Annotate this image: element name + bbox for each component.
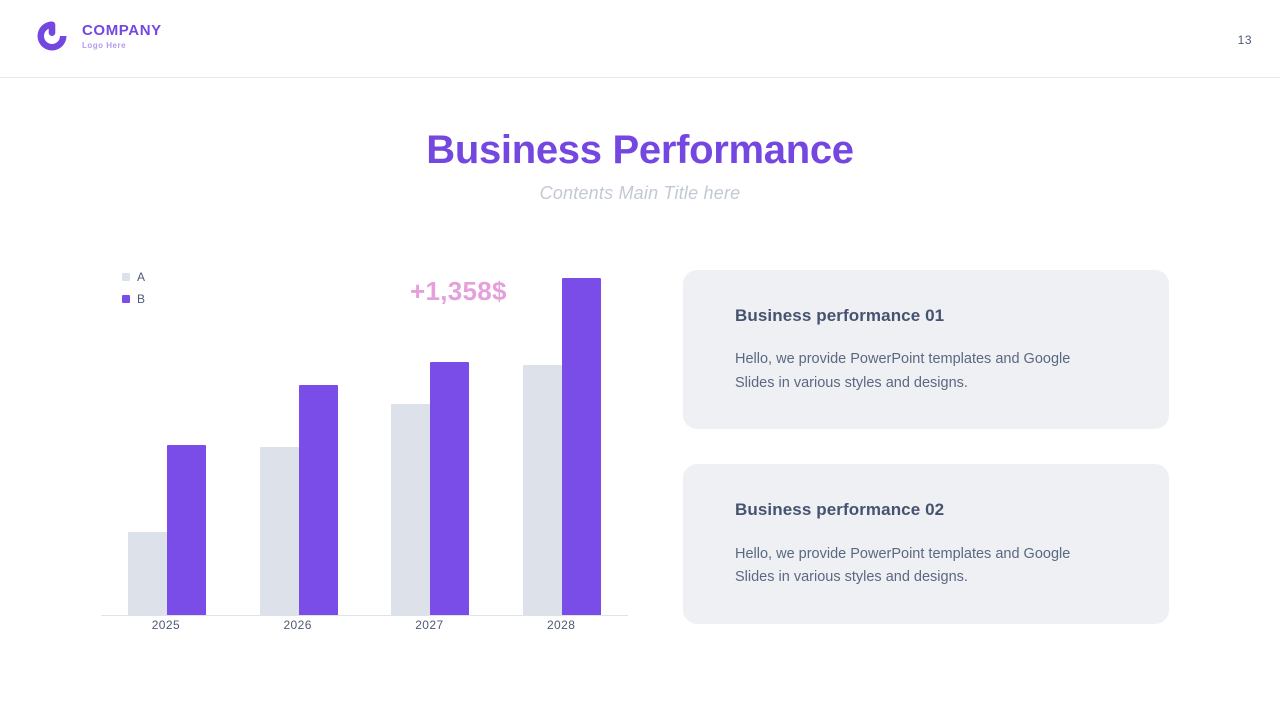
card-title: Business performance 02 [735, 500, 1117, 520]
bar-groups [101, 262, 628, 615]
card-title: Business performance 01 [735, 306, 1117, 326]
bar-group [101, 262, 233, 615]
page-subtitle: Contents Main Title here [0, 183, 1280, 204]
bar-series-a[interactable] [128, 532, 167, 615]
chart-plot-area [101, 262, 628, 616]
x-tick-label: 2028 [495, 618, 627, 632]
bar-group [496, 262, 628, 615]
x-axis-line [101, 615, 628, 616]
bar-chart: A B +1,358$ [100, 262, 640, 637]
info-card-list: Business performance 01 Hello, we provid… [683, 270, 1169, 624]
bar-series-b[interactable] [562, 278, 601, 615]
bar-series-b[interactable] [299, 385, 338, 615]
bar-series-a[interactable] [260, 447, 299, 615]
brand-text: COMPANY Logo Here [82, 23, 162, 50]
info-card-01[interactable]: Business performance 01 Hello, we provid… [683, 270, 1169, 429]
circle-ring-logo-icon [33, 17, 71, 55]
page-number: 13 [1238, 33, 1252, 47]
card-body: Hello, we provide PowerPoint templates a… [735, 348, 1075, 395]
info-card-02[interactable]: Business performance 02 Hello, we provid… [683, 464, 1169, 623]
bar-series-b[interactable] [430, 362, 469, 615]
slide-header: COMPANY Logo Here 13 [0, 0, 1280, 78]
x-tick-label: 2026 [232, 618, 364, 632]
bar-series-b[interactable] [167, 445, 206, 615]
brand-logo: COMPANY Logo Here [33, 17, 162, 55]
brand-name: COMPANY [82, 23, 162, 38]
x-tick-label: 2025 [100, 618, 232, 632]
bar-series-a[interactable] [391, 404, 430, 615]
bar-group [233, 262, 365, 615]
x-tick-label: 2027 [364, 618, 496, 632]
x-axis-labels: 2025 2026 2027 2028 [100, 618, 627, 632]
bar-group [365, 262, 497, 615]
brand-subtitle: Logo Here [82, 42, 162, 50]
card-body: Hello, we provide PowerPoint templates a… [735, 543, 1075, 590]
bar-series-a[interactable] [523, 365, 562, 615]
page-title: Business Performance [0, 128, 1280, 172]
